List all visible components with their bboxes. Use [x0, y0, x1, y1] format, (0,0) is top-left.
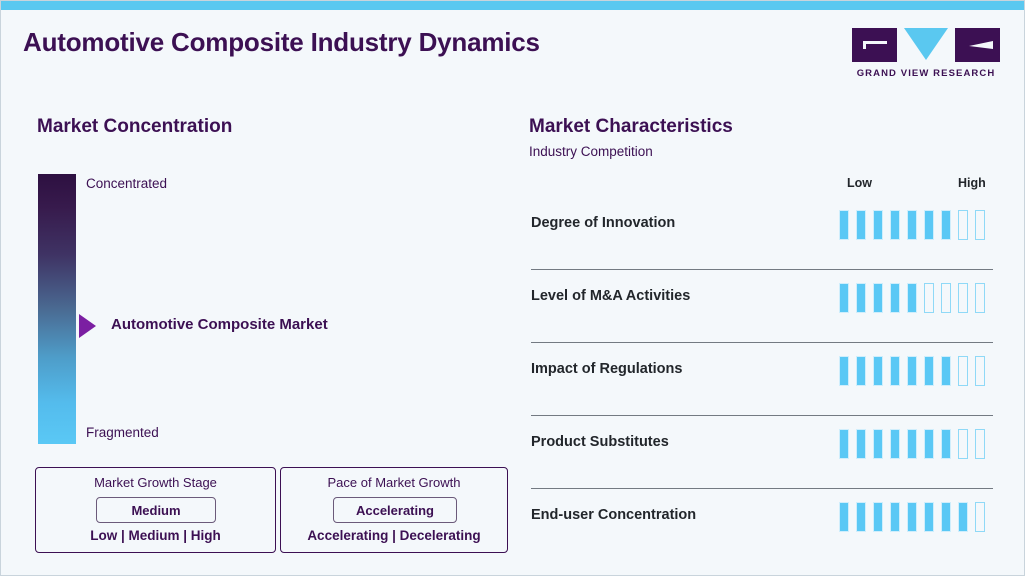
rating-segment-filled	[941, 429, 951, 459]
rating-segment-filled	[924, 502, 934, 532]
growth-stage-title: Market Growth Stage	[36, 475, 275, 490]
characteristic-label: End-user Concentration	[531, 507, 696, 523]
rating-segment-filled	[941, 356, 951, 386]
market-characteristics-title: Market Characteristics	[529, 116, 733, 138]
growth-stage-scale: Low | Medium | High	[36, 528, 275, 543]
logo-caption: GRAND VIEW RESEARCH	[852, 68, 1000, 79]
market-position-label: Automotive Composite Market	[111, 316, 328, 333]
rating-segment-filled	[873, 356, 883, 386]
rating-segment-filled	[907, 356, 917, 386]
pace-scale: Accelerating | Decelerating	[281, 528, 507, 543]
rating-segment-filled	[890, 210, 900, 240]
rating-segment-filled	[839, 356, 849, 386]
characteristic-row: Level of M&A Activities	[531, 270, 993, 343]
rating-segment-filled	[907, 429, 917, 459]
rating-segment-empty	[975, 502, 985, 532]
characteristics-list: Degree of InnovationLevel of M&A Activit…	[531, 197, 993, 561]
header: Automotive Composite Industry Dynamics G…	[1, 10, 1025, 81]
characteristic-row: Impact of Regulations	[531, 343, 993, 416]
rating-segment-filled	[924, 356, 934, 386]
rating-segment-filled	[890, 429, 900, 459]
rating-segment-empty	[975, 283, 985, 313]
rating-segment-filled	[839, 502, 849, 532]
page-title: Automotive Composite Industry Dynamics	[23, 27, 540, 58]
rating-segment-filled	[856, 210, 866, 240]
growth-stage-value: Medium	[96, 497, 216, 523]
rating-segment-filled	[873, 283, 883, 313]
characteristic-row: Product Substitutes	[531, 416, 993, 489]
market-concentration-title: Market Concentration	[37, 116, 232, 138]
rating-segment-filled	[856, 356, 866, 386]
market-growth-stage-box: Market Growth Stage Medium Low | Medium …	[35, 467, 276, 553]
market-position-marker-icon	[79, 314, 96, 338]
axis-label-low: Low	[847, 176, 872, 190]
top-accent-strip	[1, 1, 1025, 10]
rating-segment-filled	[839, 283, 849, 313]
characteristic-rating-bars	[839, 356, 985, 386]
rating-segment-filled	[873, 210, 883, 240]
rating-segment-filled	[907, 283, 917, 313]
rating-segment-filled	[839, 429, 849, 459]
rating-segment-filled	[907, 502, 917, 532]
characteristic-rating-bars	[839, 283, 985, 313]
characteristic-label: Level of M&A Activities	[531, 288, 690, 304]
characteristic-label: Product Substitutes	[531, 434, 669, 450]
rating-segment-empty	[975, 210, 985, 240]
characteristic-row: End-user Concentration	[531, 489, 993, 561]
rating-segment-filled	[873, 429, 883, 459]
rating-segment-filled	[941, 210, 951, 240]
rating-segment-filled	[941, 502, 951, 532]
rating-segment-filled	[924, 210, 934, 240]
rating-segment-empty	[958, 210, 968, 240]
concentration-bottom-label: Fragmented	[86, 425, 159, 440]
characteristic-rating-bars	[839, 210, 985, 240]
rating-segment-empty	[941, 283, 951, 313]
rating-segment-filled	[890, 356, 900, 386]
rating-segment-filled	[856, 429, 866, 459]
market-characteristics-subtitle: Industry Competition	[529, 144, 653, 159]
characteristic-label: Impact of Regulations	[531, 361, 682, 377]
rating-segment-empty	[975, 429, 985, 459]
rating-segment-filled	[958, 502, 968, 532]
logo-marks-icon	[852, 28, 1000, 62]
concentration-top-label: Concentrated	[86, 176, 167, 191]
pace-value: Accelerating	[333, 497, 457, 523]
rating-segment-empty	[924, 283, 934, 313]
rating-segment-empty	[958, 429, 968, 459]
pace-of-market-growth-box: Pace of Market Growth Accelerating Accel…	[280, 467, 508, 553]
rating-segment-empty	[958, 283, 968, 313]
rating-segment-filled	[907, 210, 917, 240]
characteristic-rating-bars	[839, 502, 985, 532]
rating-segment-filled	[856, 283, 866, 313]
rating-segment-filled	[856, 502, 866, 532]
rating-segment-filled	[890, 283, 900, 313]
characteristic-row: Degree of Innovation	[531, 197, 993, 270]
infographic-page: Automotive Composite Industry Dynamics G…	[0, 0, 1025, 576]
rating-segment-empty	[975, 356, 985, 386]
brand-logo: GRAND VIEW RESEARCH	[852, 28, 1000, 86]
rating-segment-filled	[873, 502, 883, 532]
rating-segment-filled	[890, 502, 900, 532]
rating-segment-filled	[839, 210, 849, 240]
axis-label-high: High	[958, 176, 986, 190]
concentration-gradient-bar	[38, 174, 76, 444]
pace-title: Pace of Market Growth	[281, 475, 507, 490]
characteristic-label: Degree of Innovation	[531, 215, 675, 231]
rating-segment-empty	[958, 356, 968, 386]
rating-segment-filled	[924, 429, 934, 459]
characteristic-rating-bars	[839, 429, 985, 459]
